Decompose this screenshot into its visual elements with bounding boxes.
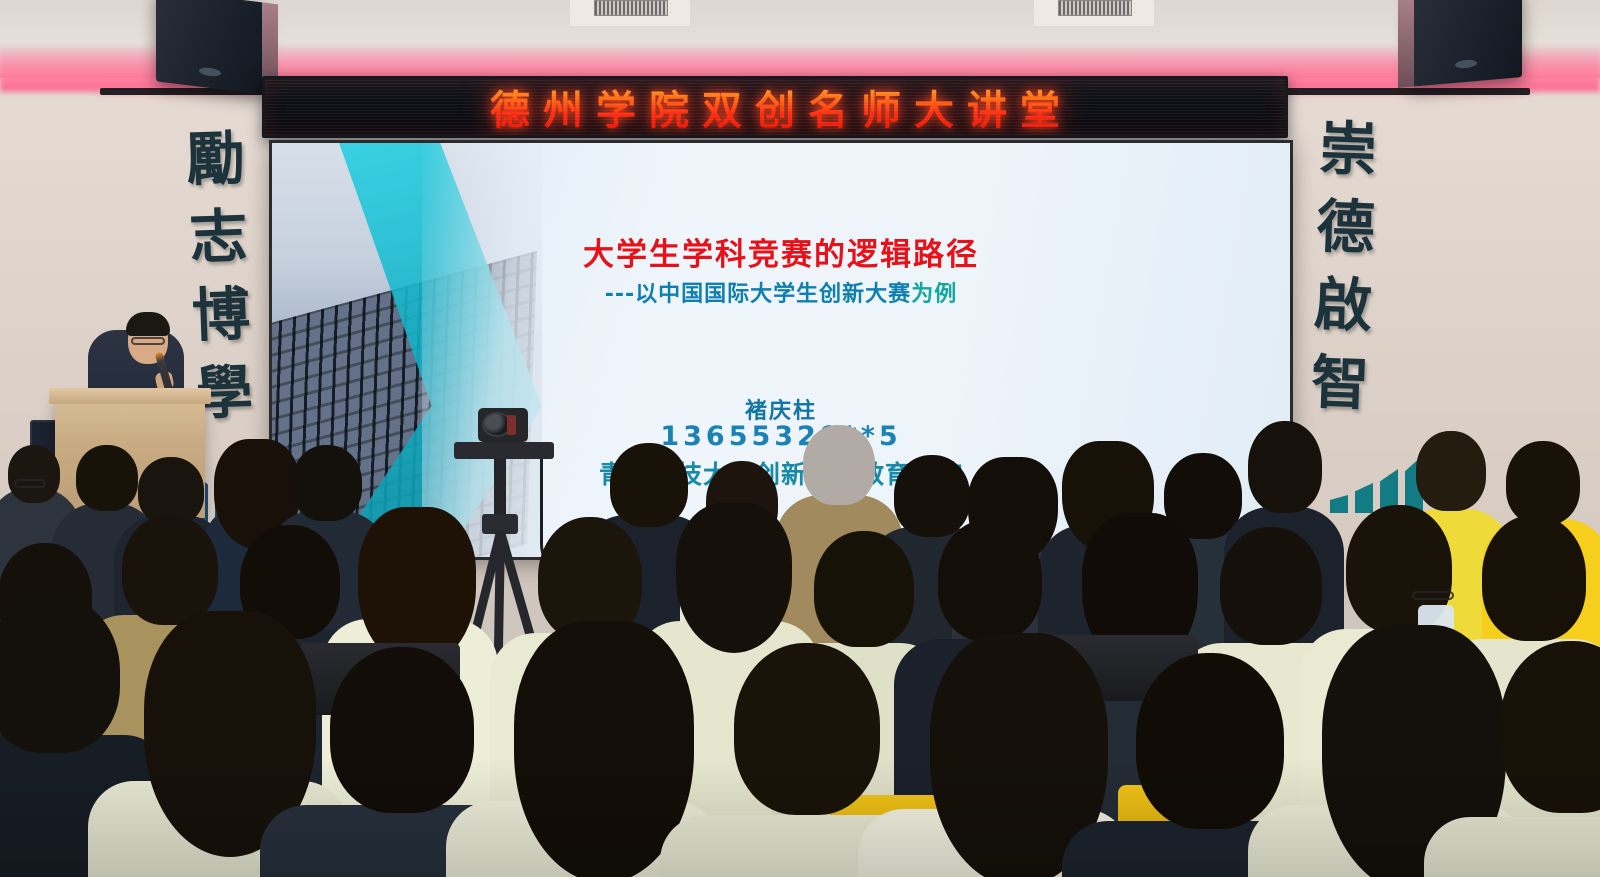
led-banner-text: 德州学院双创名师大讲堂 bbox=[477, 78, 1073, 136]
person-head bbox=[734, 643, 880, 815]
led-banner: 德州学院双创名师大讲堂 bbox=[262, 76, 1288, 138]
person-glasses bbox=[1412, 591, 1454, 600]
person-head bbox=[122, 515, 218, 625]
person-hair bbox=[676, 503, 792, 653]
person-head bbox=[1482, 515, 1586, 641]
person-head bbox=[0, 595, 120, 753]
ceiling-speaker-right bbox=[1410, 0, 1522, 87]
person-head bbox=[76, 445, 138, 511]
speaker-side-panel bbox=[1398, 0, 1414, 88]
speaker-logo bbox=[199, 67, 221, 78]
lecture-hall-photo: 德州学院双创名师大讲堂 勵志博學 崇德啟智 大学生学科竞赛的逻辑路径 ---以中… bbox=[0, 0, 1600, 877]
person-head bbox=[1248, 421, 1322, 513]
person-head bbox=[814, 531, 914, 647]
person-head bbox=[1416, 431, 1486, 511]
person-head bbox=[292, 445, 362, 521]
person-glasses bbox=[14, 479, 46, 488]
person-head bbox=[1506, 441, 1580, 525]
presenter-hair bbox=[126, 312, 170, 336]
person-head bbox=[894, 455, 970, 537]
person-body bbox=[1424, 817, 1600, 877]
person-head bbox=[8, 445, 60, 503]
audience-seating bbox=[0, 395, 1600, 877]
person-head bbox=[938, 519, 1042, 641]
ceiling-speaker-left bbox=[156, 0, 264, 95]
person-head bbox=[610, 443, 688, 527]
person-head bbox=[1220, 527, 1322, 645]
speaker-logo bbox=[1455, 59, 1477, 69]
air-vent-icon bbox=[594, 0, 668, 16]
person-head bbox=[803, 425, 875, 505]
slide-subtitle: ---以中国国际大学生创新大赛为例 bbox=[272, 276, 1290, 308]
wall-calligraphy-right: 崇德啟智 bbox=[1295, 117, 1384, 432]
air-vent-icon bbox=[1058, 0, 1132, 16]
presenter-glasses bbox=[131, 337, 165, 345]
slide-subtitle-prefix: ---以中国国际大学生创新大赛 bbox=[605, 282, 911, 307]
person-head bbox=[1136, 653, 1284, 829]
person-head bbox=[330, 647, 474, 813]
slide-title: 大学生学科竞赛的逻辑路径 bbox=[272, 229, 1290, 274]
slide-subtitle-suffix: 为例 bbox=[911, 282, 957, 307]
